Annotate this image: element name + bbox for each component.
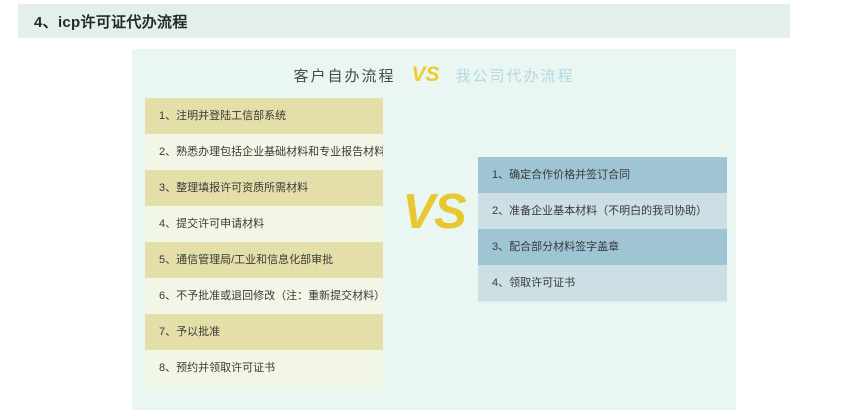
comparison-heading: 客户自办流程 VS 我公司代办流程 bbox=[132, 60, 736, 90]
self-flow-step-list: 1、注明并登陆工信部系统2、熟悉办理包括企业基础材料和专业报告材料3、整理填报许… bbox=[145, 98, 383, 387]
section-header-bar: 4、icp许可证代办流程 bbox=[18, 4, 790, 38]
agency-flow-step-row: 4、领取许可证书 bbox=[478, 265, 727, 301]
comparison-card: 客户自办流程 VS 我公司代办流程 1、注明并登陆工信部系统2、熟悉办理包括企业… bbox=[132, 49, 736, 410]
self-flow-step-row: 3、整理填报许可资质所需材料 bbox=[145, 170, 383, 206]
self-flow-step-row: 2、熟悉办理包括企业基础材料和专业报告材料 bbox=[145, 134, 383, 170]
self-flow-step-row: 7、予以批准 bbox=[145, 314, 383, 350]
agency-flow-heading-label: 我公司代办流程 bbox=[456, 65, 575, 86]
self-flow-step-row: 8、预约并领取许可证书 bbox=[145, 350, 383, 386]
agency-flow-step-row: 2、准备企业基本材料（不明白的我司协助） bbox=[478, 193, 727, 229]
self-flow-heading-label: 客户自办流程 bbox=[293, 65, 395, 86]
self-flow-step-row: 5、通信管理局/工业和信息化部审批 bbox=[145, 242, 383, 278]
self-flow-step-row: 6、不予批准或退回修改（注：重新提交材料） bbox=[145, 278, 383, 314]
agency-flow-step-row: 1、确定合作价格并签订合同 bbox=[478, 157, 727, 193]
self-flow-step-row: 1、注明并登陆工信部系统 bbox=[145, 98, 383, 134]
page-title: 4、icp许可证代办流程 bbox=[18, 11, 188, 32]
heading-vs-label: VS bbox=[411, 63, 439, 87]
center-vs-label: VS bbox=[394, 188, 474, 237]
agency-flow-step-row: 3、配合部分材料签字盖章 bbox=[478, 229, 727, 265]
self-flow-step-row: 4、提交许可申请材料 bbox=[145, 206, 383, 242]
agency-flow-step-list: 1、确定合作价格并签订合同2、准备企业基本材料（不明白的我司协助）3、配合部分材… bbox=[478, 157, 727, 302]
